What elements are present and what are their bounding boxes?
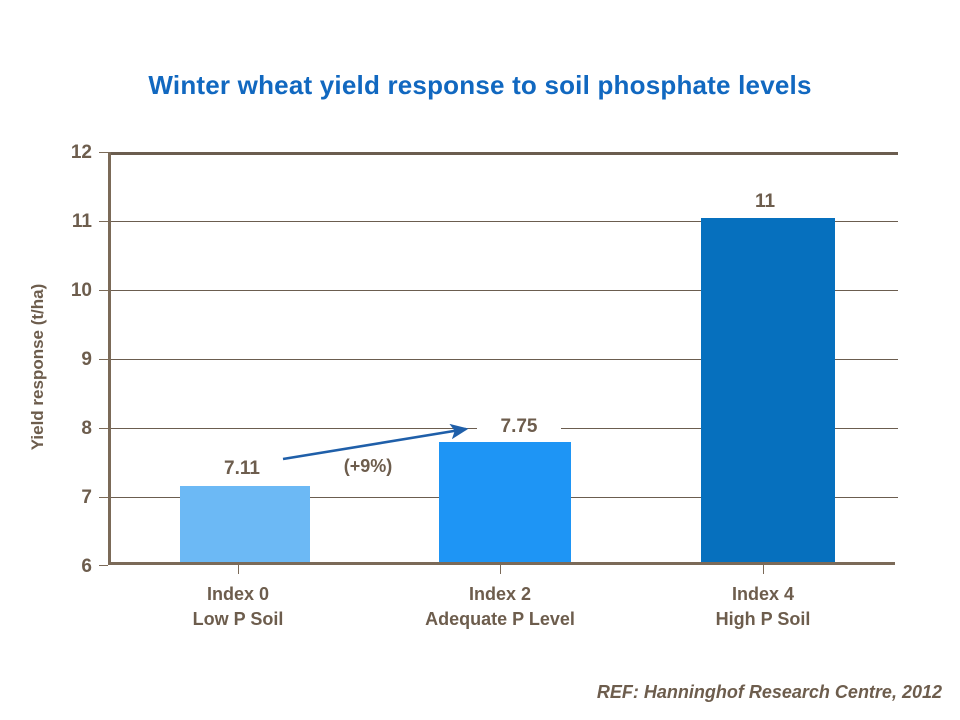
y-tick-label-11: 11 [52, 211, 92, 233]
bar-index-4[interactable] [701, 218, 835, 562]
x-category-index-4-line2: High P Soil [657, 607, 869, 632]
y-tick-label-8: 8 [52, 418, 92, 440]
y-tick-mark-12 [99, 152, 108, 153]
y-tick-mark-7 [99, 497, 108, 498]
x-category-index-4-line1: Index 4 [657, 582, 869, 607]
y-tick-mark-8 [99, 428, 108, 429]
x-category-index-2: Index 2 Adequate P Level [394, 582, 606, 632]
y-tick-mark-6 [99, 565, 108, 566]
y-tick-label-7: 7 [52, 487, 92, 509]
plot-area [108, 152, 895, 565]
x-category-index-0: Index 0 Low P Soil [132, 582, 344, 632]
chart-screen: Winter wheat yield response to soil phos… [0, 0, 960, 720]
percent-gain-label: (+9%) [312, 456, 424, 477]
bar-index-0[interactable] [180, 486, 310, 562]
y-tick-label-9: 9 [52, 349, 92, 371]
y-tick-mark-11 [99, 221, 108, 222]
reference-note: REF: Hanninghof Research Centre, 2012 [597, 682, 942, 703]
x-category-index-0-line1: Index 0 [132, 582, 344, 607]
x-category-index-2-line2: Adequate P Level [394, 607, 606, 632]
bar-index-2[interactable] [439, 442, 571, 562]
y-tick-mark-9 [99, 359, 108, 360]
x-category-index-0-line2: Low P Soil [132, 607, 344, 632]
bar-value-index-4: 11 [705, 191, 825, 213]
y-axis-title: Yield response (t/ha) [28, 157, 48, 577]
x-tick-mark-2 [763, 565, 764, 574]
x-tick-mark-0 [238, 565, 239, 574]
y-tick-label-12: 12 [52, 142, 92, 164]
page-title: Winter wheat yield response to soil phos… [0, 70, 960, 101]
x-category-index-4: Index 4 High P Soil [657, 582, 869, 632]
bar-value-index-0: 7.11 [182, 458, 302, 480]
y-tick-label-6: 6 [52, 556, 92, 578]
x-category-index-2-line1: Index 2 [394, 582, 606, 607]
gridline-12 [111, 152, 898, 155]
y-tick-label-10: 10 [52, 280, 92, 302]
y-tick-mark-10 [99, 290, 108, 291]
bar-value-index-2: 7.75 [477, 416, 561, 438]
x-tick-mark-1 [500, 565, 501, 574]
